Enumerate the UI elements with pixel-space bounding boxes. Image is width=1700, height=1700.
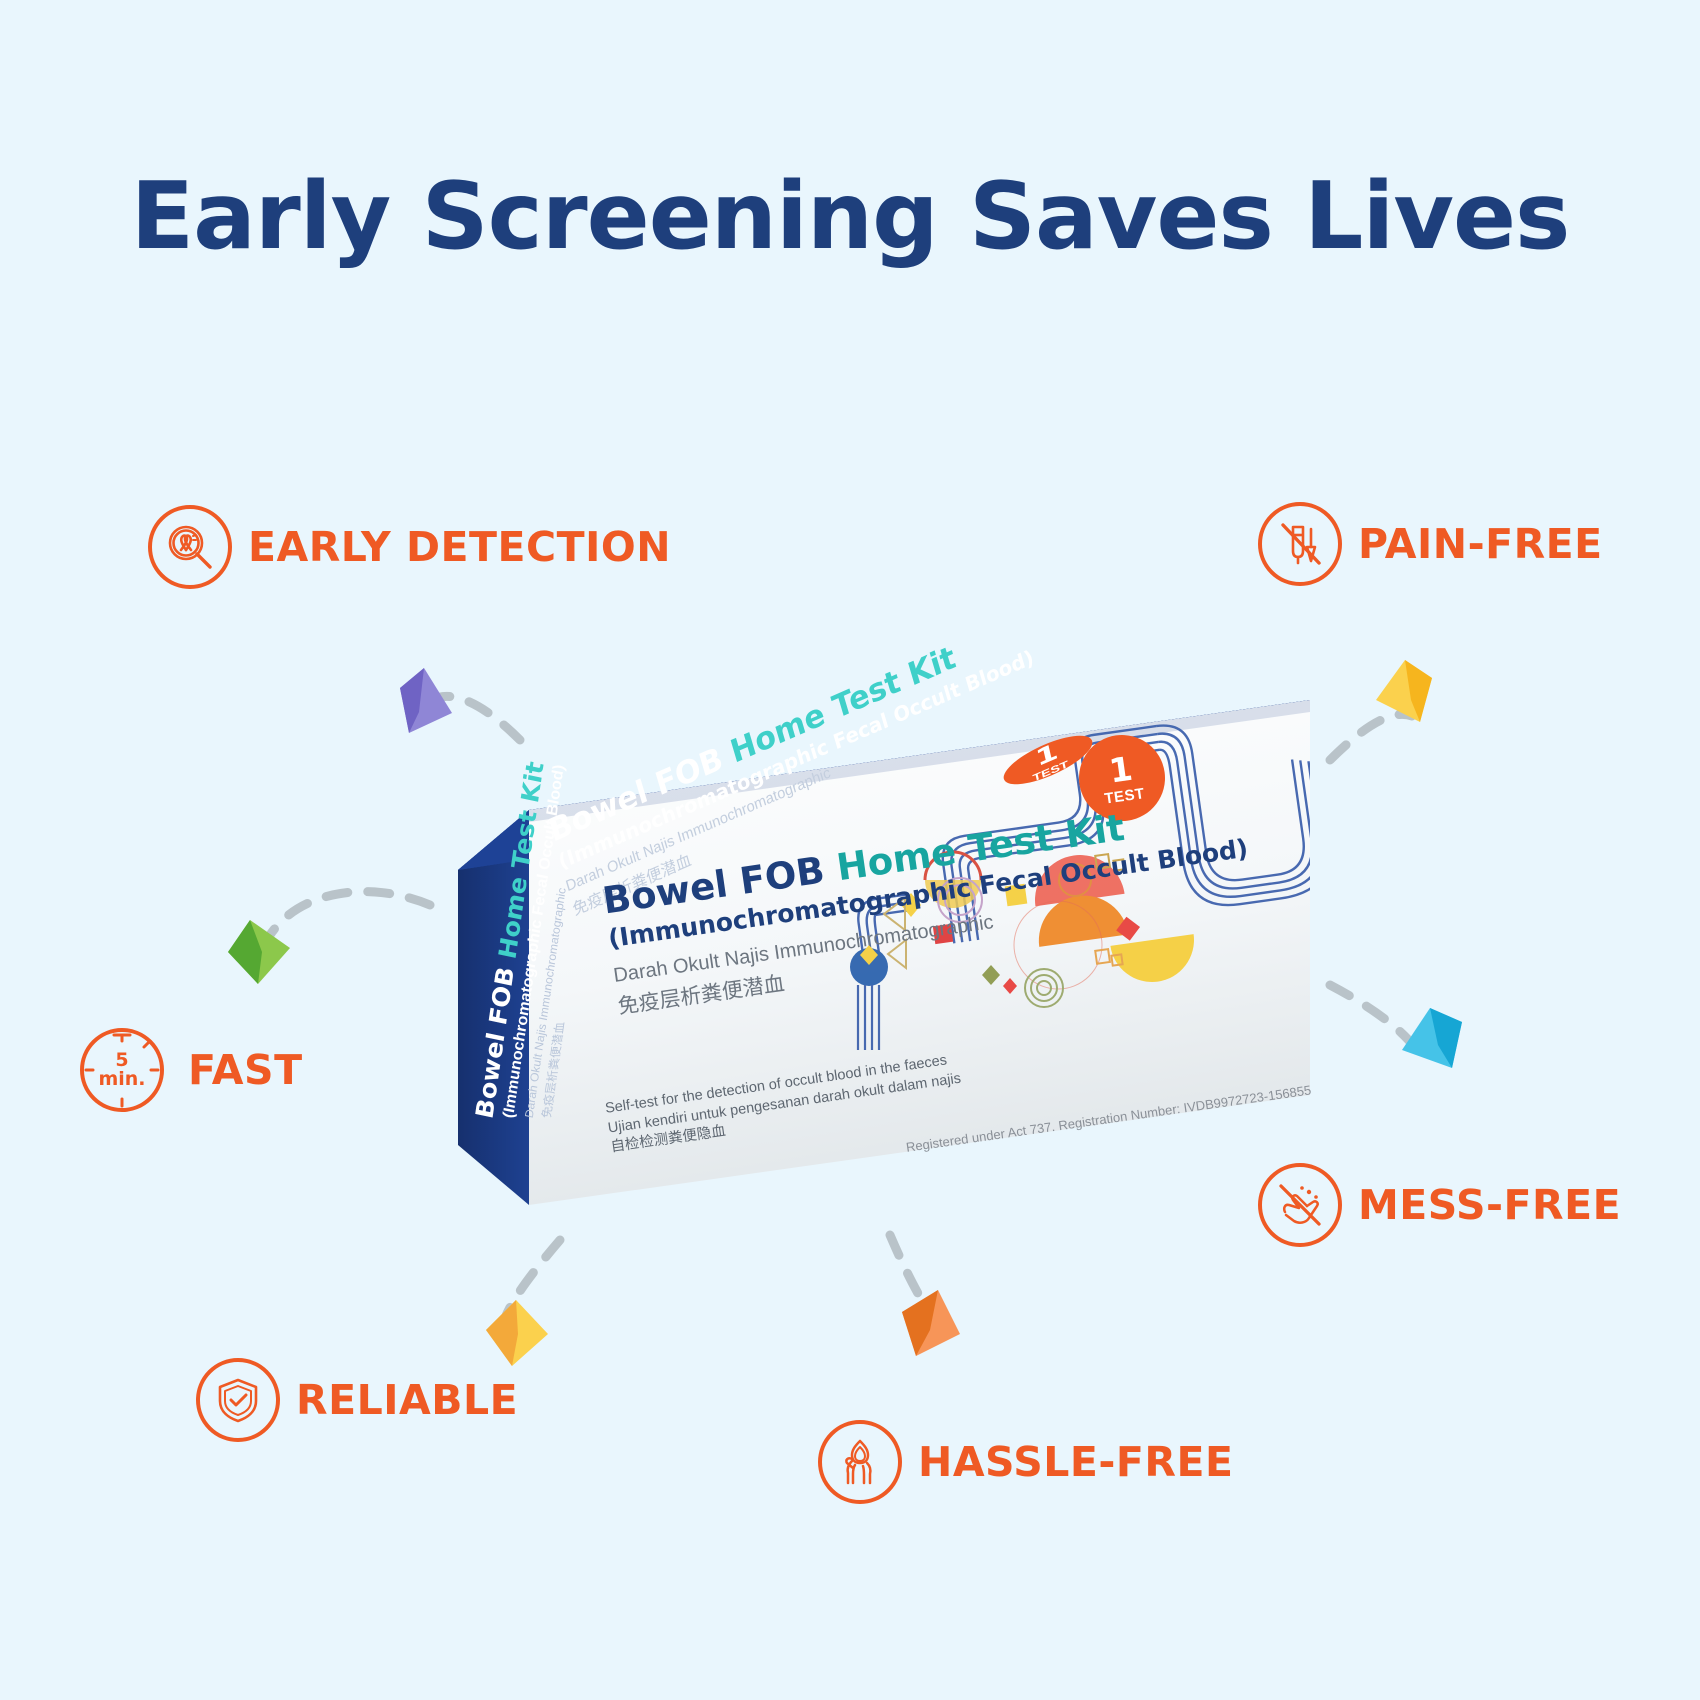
no-hand-mess-icon: [1258, 1163, 1342, 1247]
deco-square-red: [933, 924, 953, 944]
feature-early-detection-label: EARLY DETECTION: [248, 523, 671, 571]
feature-hassle-free-label: HASSLE-FREE: [918, 1438, 1234, 1486]
feature-fast: 5 min. FAST: [80, 1028, 303, 1112]
box-front-face: [529, 700, 1310, 1205]
box-side-face: [458, 810, 529, 1205]
feature-fast-label: FAST: [188, 1046, 303, 1094]
feature-reliable: RELIABLE: [196, 1358, 518, 1442]
no-needle-icon: [1258, 502, 1342, 586]
stopwatch-icon: 5 min.: [80, 1028, 164, 1112]
hand-device-icon: [818, 1420, 902, 1504]
poster-canvas: Early Screening Saves Lives: [0, 0, 1700, 1700]
feature-early-detection: EARLY DETECTION: [148, 505, 671, 589]
feature-pain-free-label: PAIN-FREE: [1358, 520, 1603, 568]
feature-hassle-free: HASSLE-FREE: [818, 1420, 1234, 1504]
shield-check-icon: [196, 1358, 280, 1442]
feature-mess-free-label: MESS-FREE: [1358, 1181, 1621, 1229]
magnifier-ribbon-icon: [148, 505, 232, 589]
badge-count-front: 1: [1107, 751, 1134, 787]
badge-label-front: TEST: [1103, 786, 1145, 806]
feature-mess-free: MESS-FREE: [1258, 1163, 1621, 1247]
deco-square-yellow: [1005, 884, 1028, 907]
feature-reliable-label: RELIABLE: [296, 1376, 518, 1424]
feature-pain-free: PAIN-FREE: [1258, 502, 1603, 586]
